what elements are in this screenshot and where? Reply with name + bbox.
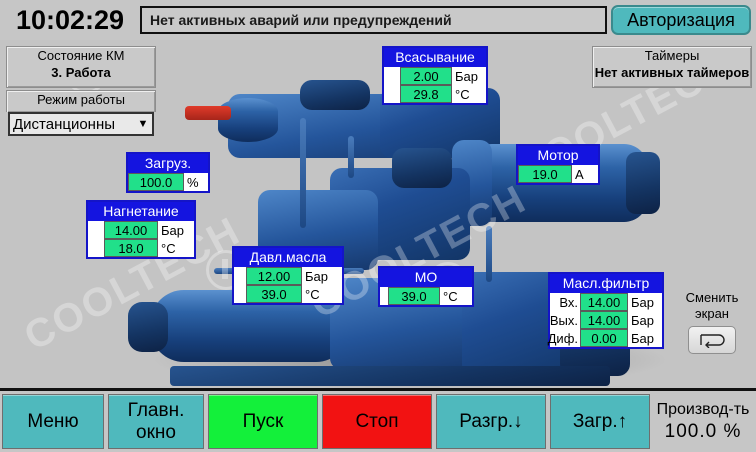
- oil-separator-temperature-value: 39.0: [388, 287, 440, 305]
- suction-readout-panel: Всасывание 2.00 Бар 29.8 °C: [382, 46, 488, 105]
- oil-filter-outlet-label: Вых.: [550, 311, 580, 329]
- change-screen-button[interactable]: [688, 326, 736, 354]
- motor-row-current: 19.0 A: [518, 165, 598, 183]
- motor-current-unit: A: [572, 165, 598, 183]
- operating-mode-panel: Режим работы: [6, 90, 156, 112]
- compressor-status-value: 3. Работа: [7, 64, 155, 81]
- operating-mode-title: Режим работы: [7, 91, 155, 108]
- main-stage: COOLTECH COOLTECH COOLTECH Состояние КМ …: [0, 40, 756, 388]
- suction-temperature-unit: °C: [452, 85, 486, 103]
- start-button[interactable]: Пуск: [208, 394, 318, 449]
- discharge-pressure-value: 14.00: [104, 221, 158, 239]
- change-screen-label-line2: экран: [672, 306, 752, 322]
- suction-pressure-unit: Бар: [452, 67, 486, 85]
- oil-pressure-unit: Бар: [302, 267, 342, 285]
- oil-filter-differential-unit: Бар: [628, 329, 662, 347]
- motor-readout-panel: Мотор 19.0 A: [516, 144, 600, 185]
- timers-panel: Таймеры Нет активных таймеров: [592, 46, 752, 88]
- discharge-temperature-value: 18.0: [104, 239, 158, 257]
- oil-filter-readout-panel: Масл.фильтр Вх. 14.00 Бар Вых. 14.00 Бар…: [548, 272, 664, 349]
- menu-button[interactable]: Меню: [2, 394, 104, 449]
- oil-pressure-value: 12.00: [246, 267, 302, 285]
- clock-display: 10:02:29: [2, 2, 138, 38]
- authorization-button[interactable]: Авторизация: [611, 5, 751, 35]
- oil-pressure-row-temperature: 39.0 °C: [234, 285, 342, 303]
- oil-filter-inlet-unit: Бар: [628, 293, 662, 311]
- oil-filter-outlet-unit: Бар: [628, 311, 662, 329]
- oil-temperature-unit: °C: [302, 285, 342, 303]
- operating-mode-select[interactable]: Дистанционны ▼: [8, 112, 154, 136]
- oil-pressure-row-pressure: 12.00 Бар: [234, 267, 342, 285]
- suction-temperature-value: 29.8: [400, 85, 452, 103]
- top-bar: 10:02:29 Нет активных аварий или предупр…: [0, 0, 756, 40]
- main-window-button[interactable]: Главн. окно: [108, 394, 204, 449]
- bottom-button-bar: Меню Главн. окно Пуск Стоп Разгр.↓ Загр.…: [0, 388, 756, 452]
- stop-button[interactable]: Стоп: [322, 394, 432, 449]
- discharge-temperature-unit: °C: [158, 239, 194, 257]
- timers-value: Нет активных таймеров: [593, 64, 751, 81]
- load-readout-panel: Загруз. 100.0 %: [126, 152, 210, 193]
- oil-filter-outlet-value: 14.00: [580, 311, 628, 329]
- discharge-row-pressure: 14.00 Бар: [88, 221, 194, 239]
- load-button[interactable]: Загр.↑: [550, 394, 650, 449]
- oil-filter-row-outlet: Вых. 14.00 Бар: [550, 311, 662, 329]
- oil-filter-differential-value: 0.00: [580, 329, 628, 347]
- oil-filter-differential-label: Диф.: [550, 329, 580, 347]
- oil-separator-readout-panel: МО 39.0 °C: [378, 266, 474, 307]
- change-screen-control[interactable]: Сменить экран: [672, 290, 752, 354]
- capacity-display: Производ-ть 100.0 %: [652, 394, 754, 449]
- oil-pressure-title: Давл.масла: [234, 248, 342, 267]
- oil-separator-temperature-unit: °C: [440, 287, 470, 305]
- hmi-screen: 10:02:29 Нет активных аварий или предупр…: [0, 0, 756, 452]
- oil-filter-row-inlet: Вх. 14.00 Бар: [550, 293, 662, 311]
- oil-separator-row-temperature: 39.0 °C: [380, 287, 472, 305]
- loop-arrow-icon: [697, 332, 727, 348]
- timers-title: Таймеры: [593, 47, 751, 64]
- oil-filter-row-differential: Диф. 0.00 Бар: [550, 329, 662, 347]
- load-row: 100.0 %: [128, 173, 208, 191]
- change-screen-label-line1: Сменить: [672, 290, 752, 306]
- capacity-value: 100.0 %: [665, 420, 742, 444]
- motor-title: Мотор: [518, 146, 598, 165]
- discharge-title: Нагнетание: [88, 202, 194, 221]
- discharge-readout-panel: Нагнетание 14.00 Бар 18.0 °C: [86, 200, 196, 259]
- motor-current-value: 19.0: [518, 165, 572, 183]
- compressor-status-title: Состояние КМ: [7, 47, 155, 64]
- alarm-status-bar[interactable]: Нет активных аварий или предупреждений: [140, 6, 607, 34]
- oil-filter-inlet-value: 14.00: [580, 293, 628, 311]
- load-value: 100.0: [128, 173, 184, 191]
- chevron-down-icon[interactable]: ▼: [134, 114, 152, 134]
- load-title: Загруз.: [128, 154, 208, 173]
- oil-pressure-readout-panel: Давл.масла 12.00 Бар 39.0 °C: [232, 246, 344, 305]
- suction-pressure-value: 2.00: [400, 67, 452, 85]
- load-unit: %: [184, 173, 208, 191]
- operating-mode-selected-value: Дистанционны: [13, 116, 115, 133]
- discharge-pressure-unit: Бар: [158, 221, 194, 239]
- oil-filter-inlet-label: Вх.: [550, 293, 580, 311]
- suction-row-temperature: 29.8 °C: [384, 85, 486, 103]
- oil-separator-title: МО: [380, 268, 472, 287]
- oil-temperature-value: 39.0: [246, 285, 302, 303]
- discharge-row-temperature: 18.0 °C: [88, 239, 194, 257]
- suction-row-pressure: 2.00 Бар: [384, 67, 486, 85]
- unload-button[interactable]: Разгр.↓: [436, 394, 546, 449]
- oil-filter-title: Масл.фильтр: [550, 274, 662, 293]
- capacity-title: Производ-ть: [657, 400, 750, 420]
- suction-title: Всасывание: [384, 48, 486, 67]
- compressor-status-panel: Состояние КМ 3. Работа: [6, 46, 156, 88]
